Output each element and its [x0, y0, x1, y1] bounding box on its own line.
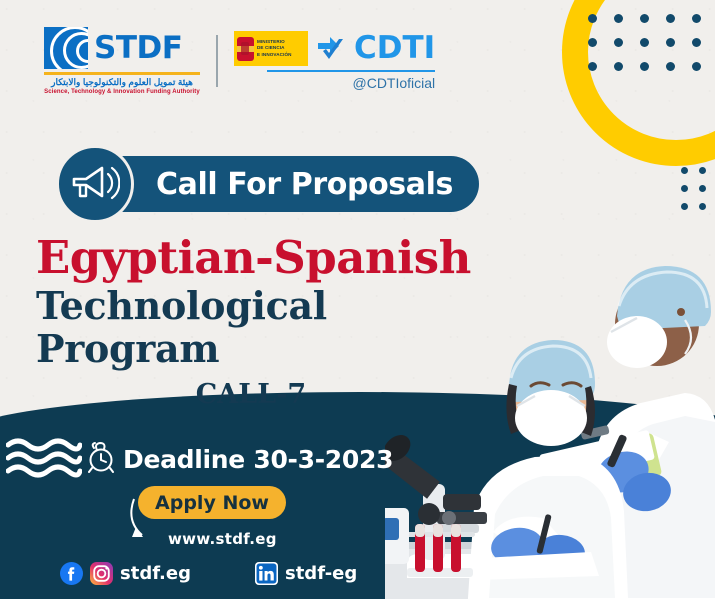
call-for-proposals-banner: Call For Proposals: [56, 145, 479, 223]
social-handle-linkedin: stdf-eg: [285, 563, 357, 584]
header-logos: STDF هيئة تمويل العلوم والتكنولوجيا والا…: [44, 27, 435, 95]
facebook-icon[interactable]: [60, 562, 83, 585]
social-group-facebook-instagram[interactable]: stdf.eg: [60, 562, 191, 585]
stdf-divider-rule: [44, 72, 200, 75]
alarm-clock-icon: [88, 441, 114, 478]
cdti-wordmark: CDTI: [354, 33, 435, 64]
navy-dot-grid-right: [681, 167, 715, 221]
linkedin-icon[interactable]: [255, 562, 278, 585]
cdti-logo: MINISTERIO DE CIENCIA E INNOVACIÓN CDTI …: [234, 31, 435, 91]
stdf-arabic-tagline: هيئة تمويل العلوم والتكنولوجيا والابتكار: [44, 77, 200, 88]
navy-dot-grid-top: [588, 14, 715, 86]
stdf-wordmark: STDF: [94, 33, 182, 64]
ministry-line-3: E INNOVACIÓN: [257, 52, 292, 58]
ministry-label: MINISTERIO DE CIENCIA E INNOVACIÓN: [257, 39, 292, 58]
poster-canvas: STDF هيئة تمويل العلوم والتكنولوجيا والا…: [0, 0, 715, 599]
cdti-divider-rule: [267, 70, 435, 72]
social-handle-instagram: stdf.eg: [120, 563, 191, 584]
stdf-logo: STDF هيئة تمويل العلوم والتكنولوجيا والا…: [44, 27, 200, 95]
deadline-text: Deadline 30-3-2023: [123, 445, 393, 474]
spain-ministry-flag: MINISTERIO DE CIENCIA E INNOVACIÓN: [234, 31, 308, 66]
social-group-linkedin[interactable]: stdf-eg: [255, 562, 357, 585]
deadline-block: Deadline 30-3-2023: [88, 441, 393, 478]
call-for-proposals-label: Call For Proposals: [156, 167, 453, 202]
spain-coat-of-arms-icon: [237, 37, 254, 61]
cdti-arrow-check-icon: [317, 34, 345, 64]
white-wave-lines: [6, 437, 82, 479]
cdti-handle: @CDTIoficial: [353, 75, 436, 91]
instagram-icon[interactable]: [90, 562, 113, 585]
megaphone-icon: [56, 145, 134, 223]
stdf-signal-arcs-icon: [44, 27, 88, 69]
headline-block: Egyptian-Spanish Technological Program C…: [36, 234, 496, 410]
headline-call-number: CALL-7: [36, 379, 466, 410]
headline-line-2: Technological Program: [36, 284, 496, 371]
logo-divider: [216, 35, 218, 87]
stdf-english-tagline: Science, Technology & Innovation Funding…: [44, 89, 200, 95]
headline-line-1: Egyptian-Spanish: [36, 234, 496, 282]
social-links: stdf.eg stdf-eg: [60, 562, 357, 585]
website-url[interactable]: www.stdf.eg: [168, 530, 277, 548]
